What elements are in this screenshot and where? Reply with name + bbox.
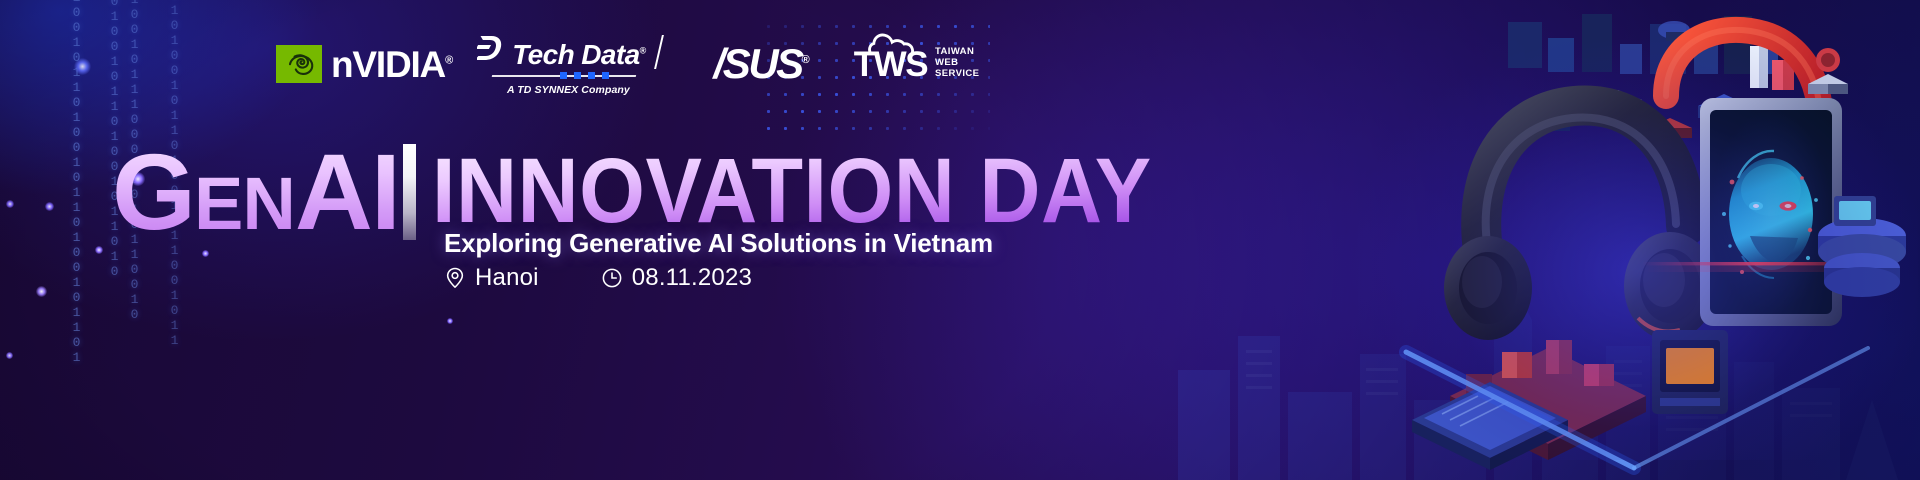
techdata-underline-decor: [492, 72, 644, 80]
sponsor-logo-row: nVIDIA® Tech Data® A T: [276, 36, 979, 92]
genai-isometric-illustration: [1398, 0, 1918, 480]
glow-dot: [45, 202, 54, 211]
asus-logo: /SUS®: [714, 43, 810, 85]
event-date: 08.11.2023: [601, 264, 752, 292]
glow-dot: [202, 250, 209, 257]
techdata-logo: Tech Data® A TD SYNNEX Company: [477, 33, 659, 96]
techdata-slash-decor: [654, 35, 664, 69]
event-location: Hanoi: [444, 264, 539, 292]
tws-tagline: TAIWAN WEB SERVICE: [935, 46, 979, 82]
binary-code-column: 1001011010010110100101101: [70, 0, 83, 195]
event-meta-row: Hanoi 08.11.2023: [444, 264, 752, 292]
tws-logo: TWS TAIWAN WEB SERVICE: [854, 46, 980, 82]
glow-dot: [447, 318, 453, 324]
cloud-icon: [865, 33, 923, 55]
headline-divider-bar: [403, 144, 416, 240]
nvidia-wordmark: nVIDIA®: [331, 46, 453, 83]
asus-wordmark: /SUS®: [714, 43, 810, 85]
map-pin-icon: [444, 267, 466, 289]
techdata-monogram-icon: [477, 33, 505, 69]
genai-brand-wordmark: GENAI: [112, 140, 399, 244]
techdata-wordmark: Tech Data®: [512, 41, 645, 69]
binary-code-column: 0100101101001011010: [108, 0, 121, 144]
glow-dot: [95, 246, 103, 254]
event-date-label: 08.11.2023: [632, 264, 752, 292]
clock-icon: [601, 267, 623, 289]
nvidia-eye-icon: [276, 45, 322, 83]
event-location-label: Hanoi: [475, 264, 539, 292]
glow-dot: [36, 286, 47, 297]
artwork-svg: [1398, 0, 1918, 480]
nvidia-logo: nVIDIA®: [276, 45, 453, 83]
event-title: INNOVATION DAY: [432, 148, 1152, 235]
event-subtitle: Exploring Generative AI Solutions in Vie…: [444, 228, 993, 259]
glow-dot: [74, 58, 91, 75]
techdata-tagline: A TD SYNNEX Company: [507, 84, 630, 96]
genai-innovation-day-banner: 0100101101001011010 10010110100101101001…: [0, 0, 1920, 480]
glow-dot: [6, 352, 13, 359]
glow-dot: [6, 200, 14, 208]
